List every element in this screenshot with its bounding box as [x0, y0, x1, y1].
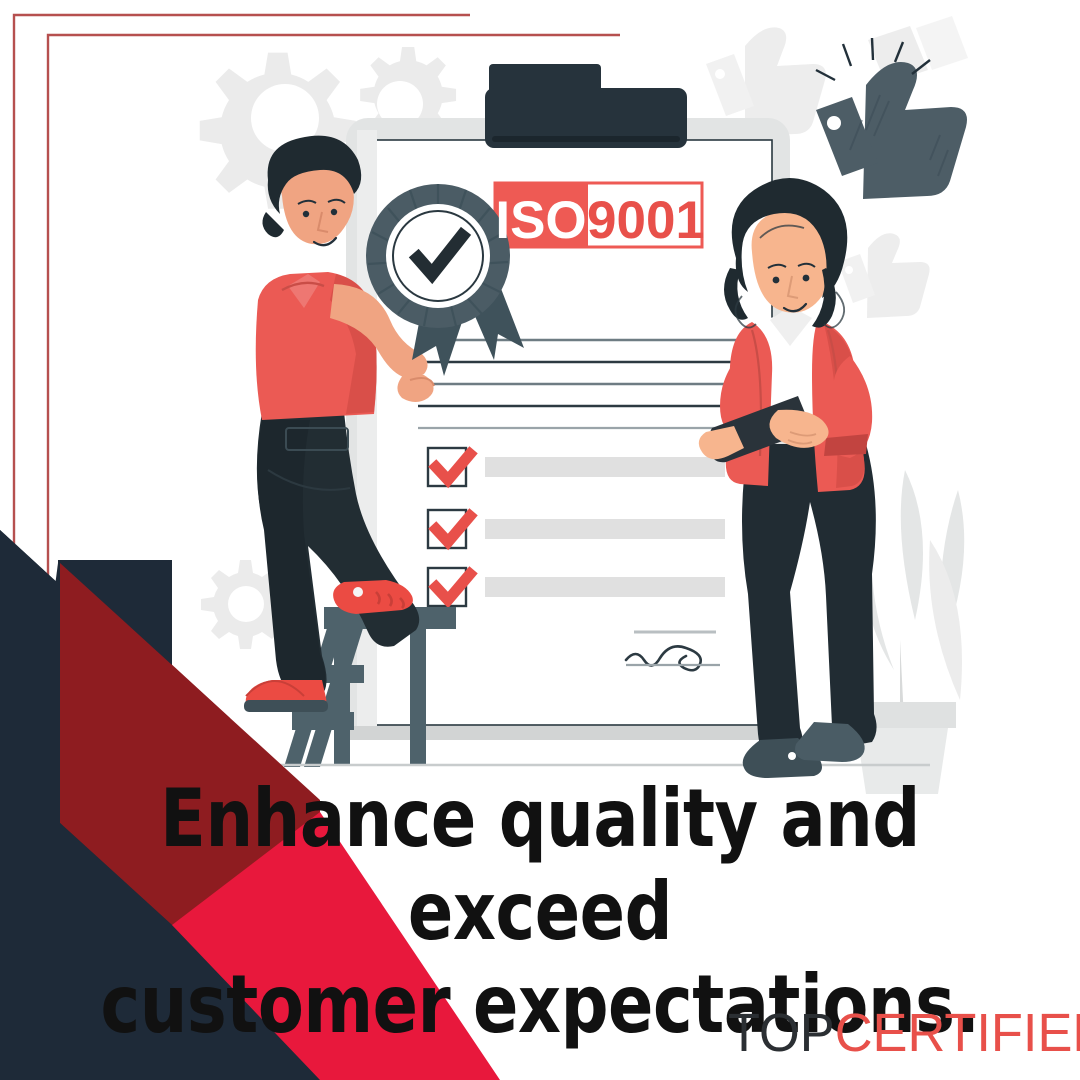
logo-text-certifier: CERTIFIER: [835, 1003, 1080, 1063]
brand-logo[interactable]: TOPCERTIFIER: [720, 998, 1070, 1068]
logo-text-top: TOP: [728, 1003, 835, 1063]
poster-canvas: Enhance quality and exceed customer expe…: [0, 0, 1080, 1080]
logo-wordmark: TOPCERTIFIER: [728, 1006, 1080, 1060]
